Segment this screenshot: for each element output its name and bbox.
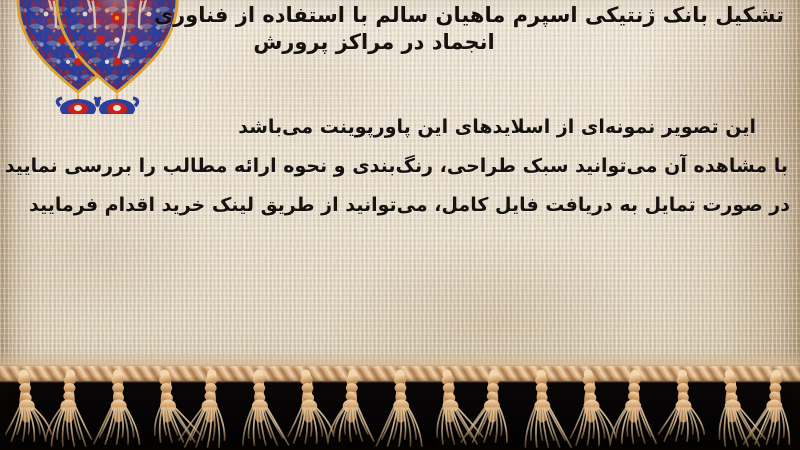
tassel [94,374,140,444]
carpet-fringe-region [0,352,800,450]
slide-title-line-1: تشکیل بانک ژنتیکی اسپرم ماهیان سالم با ا… [16,2,784,29]
tassel-layer [0,352,800,450]
tassel [525,374,571,447]
slide-title: تشکیل بانک ژنتیکی اسپرم ماهیان سالم با ا… [16,2,784,56]
tassel [376,374,422,446]
tassel [570,373,616,445]
body-line-1: این تصویر نمونه‌ای از اسلایدهای این پاور… [4,108,790,147]
tassel [179,374,225,447]
tassel [46,374,92,446]
tassel [243,374,289,445]
tassel [155,373,201,442]
tassel [659,374,705,441]
slide-body-text: این تصویر نمونه‌ای از اسلایدهای این پاور… [4,108,790,225]
tassel [6,373,52,441]
body-line-3: در صورت تمایل به دریافت فایل کامل، می‌تو… [4,186,790,225]
tassel [461,374,507,442]
tassel [611,374,657,443]
slide-title-line-2: انجماد در مراکز پرورش [16,29,784,56]
tassel [744,374,790,444]
tassel [328,374,374,441]
presentation-slide: تشکیل بانک ژنتیکی اسپرم ماهیان سالم با ا… [0,0,800,450]
tassel [288,373,334,443]
body-line-2: با مشاهده آن می‌توانید سبک طراحی، رنگ‌بن… [4,147,790,186]
